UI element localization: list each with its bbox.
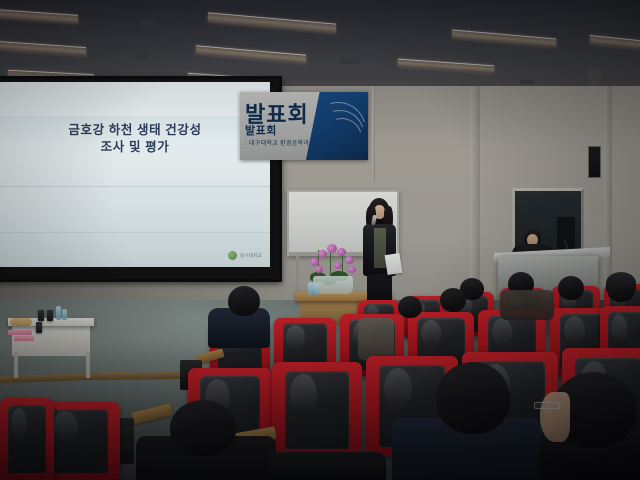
banner-shading bbox=[240, 92, 368, 160]
coat-on-seat bbox=[500, 290, 554, 320]
presenter-shirt bbox=[374, 228, 386, 268]
slide-title-line1: 금호강 하천 생태 건강성 bbox=[0, 122, 270, 139]
ceiling-vent bbox=[520, 80, 534, 84]
slide-logo: 대구대학교 bbox=[228, 251, 262, 260]
orchid-pot bbox=[313, 276, 353, 294]
orchid-bloom bbox=[345, 256, 354, 264]
water-bottle bbox=[308, 282, 313, 295]
foreground-person-torso bbox=[266, 452, 386, 480]
slide-logo-text: 대구대학교 bbox=[240, 253, 262, 259]
ceiling-vent bbox=[140, 20, 156, 25]
ceiling-vent bbox=[136, 54, 150, 59]
drink-can bbox=[36, 322, 42, 333]
ceiling-vent bbox=[340, 58, 360, 64]
orchid-bloom bbox=[337, 248, 346, 256]
auditorium-seat[interactable] bbox=[272, 362, 362, 458]
slide-divider bbox=[0, 232, 270, 233]
pink-item bbox=[8, 330, 32, 335]
foreground-person-face bbox=[540, 392, 570, 442]
drink-can bbox=[47, 310, 53, 321]
water-bottle bbox=[314, 284, 319, 295]
water-bottle bbox=[56, 306, 61, 320]
orchid-bloom bbox=[315, 266, 323, 273]
slide-title-line2: 조사 및 평가 bbox=[0, 139, 270, 156]
wall-corner bbox=[470, 86, 480, 306]
auditorium-seat[interactable] bbox=[0, 398, 54, 480]
whiteboard-leg bbox=[296, 256, 299, 292]
ceiling-vent bbox=[386, 38, 396, 42]
university-logo-icon bbox=[228, 251, 237, 260]
wall-corner bbox=[604, 86, 612, 306]
audience-head bbox=[440, 288, 466, 312]
pink-item bbox=[14, 336, 34, 341]
eyeglasses bbox=[534, 402, 560, 409]
photo-scene: 금호강 하천 생태 건강성 조사 및 평가 대구대학교 발표회 발표회 : 대구… bbox=[0, 0, 640, 480]
coat-on-seat bbox=[358, 318, 394, 360]
banner-pole bbox=[372, 86, 375, 182]
projection-screen: 금호강 하천 생태 건강성 조사 및 평가 대구대학교 bbox=[0, 82, 270, 267]
presenter-papers bbox=[385, 253, 403, 275]
orchid-bloom bbox=[318, 250, 327, 258]
orchid-bloom bbox=[327, 244, 337, 253]
wall-mounted-speaker bbox=[588, 146, 601, 178]
slide-divider bbox=[0, 186, 270, 187]
table-leg bbox=[86, 352, 90, 378]
orchid-bloom bbox=[348, 266, 356, 273]
audience-head bbox=[228, 286, 260, 316]
slide-title: 금호강 하천 생태 건강성 조사 및 평가 bbox=[0, 122, 270, 156]
audience-head bbox=[558, 276, 584, 300]
audience-head bbox=[398, 296, 422, 318]
audience-head bbox=[608, 282, 634, 302]
wall-mounted-box bbox=[588, 70, 602, 86]
drink-can bbox=[38, 310, 44, 321]
foreground-person-head bbox=[170, 400, 236, 456]
foreground-person-head bbox=[436, 362, 510, 434]
table-leg bbox=[14, 352, 18, 378]
water-bottle bbox=[62, 309, 67, 320]
snack-item bbox=[10, 318, 32, 326]
event-banner: 발표회 발표회 : 대구대학교 환경공학과 bbox=[240, 92, 368, 160]
orchid-bloom bbox=[310, 258, 319, 266]
orchid-bloom bbox=[334, 262, 342, 269]
